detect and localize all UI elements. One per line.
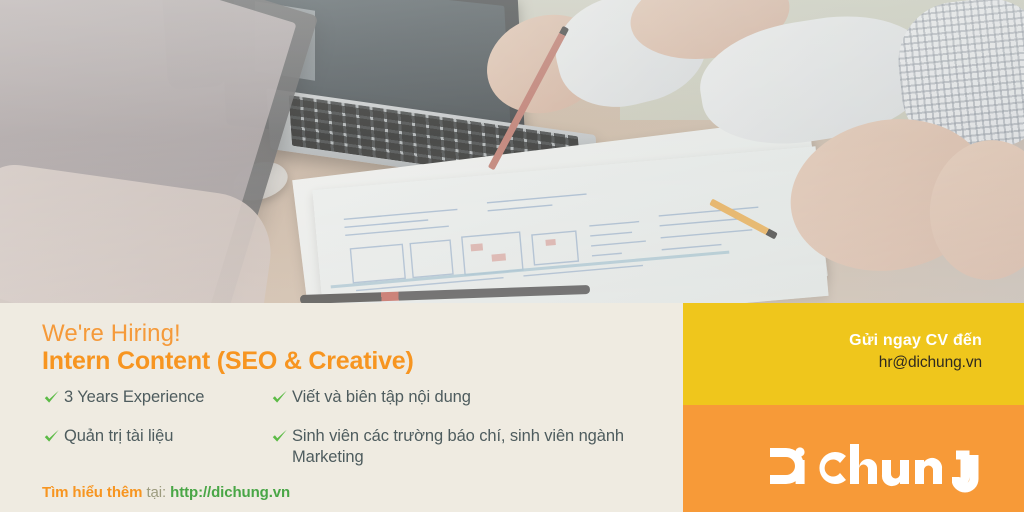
list-item-label: Viết và biên tập nội dung — [292, 387, 471, 408]
list-item: Sinh viên các trường báo chí, sinh viên … — [270, 426, 630, 468]
more-info-middle: tại: — [146, 484, 166, 501]
logo-panel — [683, 405, 1024, 512]
list-item: Quản trị tài liệu — [42, 426, 270, 447]
dichung-logo-mark — [768, 442, 954, 490]
more-info-prefix: Tìm hiểu thêm — [42, 484, 142, 501]
dichung-logo[interactable] — [768, 437, 982, 495]
requirements-list: 3 Years Experience Quản trị tài liệu — [42, 387, 652, 484]
content-panel: We're Hiring! Intern Content (SEO & Crea… — [0, 303, 683, 512]
headline-line1: We're Hiring! — [42, 321, 414, 346]
list-item: Viết và biên tập nội dung — [270, 387, 630, 408]
list-item-label: Sinh viên các trường báo chí, sinh viên … — [292, 426, 630, 468]
requirements-row-1: 3 Years Experience Quản trị tài liệu — [42, 387, 652, 484]
hero-photo — [0, 0, 1024, 303]
check-icon — [270, 427, 289, 446]
check-icon — [42, 388, 61, 407]
requirements-column-left: 3 Years Experience Quản trị tài liệu — [42, 387, 270, 484]
check-icon — [270, 388, 289, 407]
website-link[interactable]: http://dichung.vn — [170, 484, 290, 501]
headline-line2: Intern Content (SEO & Creative) — [42, 346, 414, 377]
headline-block: We're Hiring! Intern Content (SEO & Crea… — [42, 321, 414, 377]
hiring-banner: We're Hiring! Intern Content (SEO & Crea… — [0, 0, 1024, 512]
dichung-logo-g — [952, 443, 982, 495]
list-item: 3 Years Experience — [42, 387, 270, 408]
requirements-column-right: Viết và biên tập nội dung Sinh viên các … — [270, 387, 630, 484]
list-item-label: 3 Years Experience — [64, 387, 204, 408]
check-icon — [42, 427, 61, 446]
cv-panel-heading: Gửi ngay CV đến — [849, 330, 982, 352]
cv-panel: Gửi ngay CV đến hr@dichung.vn — [683, 303, 1024, 405]
cv-email[interactable]: hr@dichung.vn — [849, 352, 982, 374]
cv-text-block: Gửi ngay CV đến hr@dichung.vn — [849, 330, 982, 374]
more-info-line: Tìm hiểu thêm tại: http://dichung.vn — [42, 484, 290, 501]
list-item-label: Quản trị tài liệu — [64, 426, 173, 447]
